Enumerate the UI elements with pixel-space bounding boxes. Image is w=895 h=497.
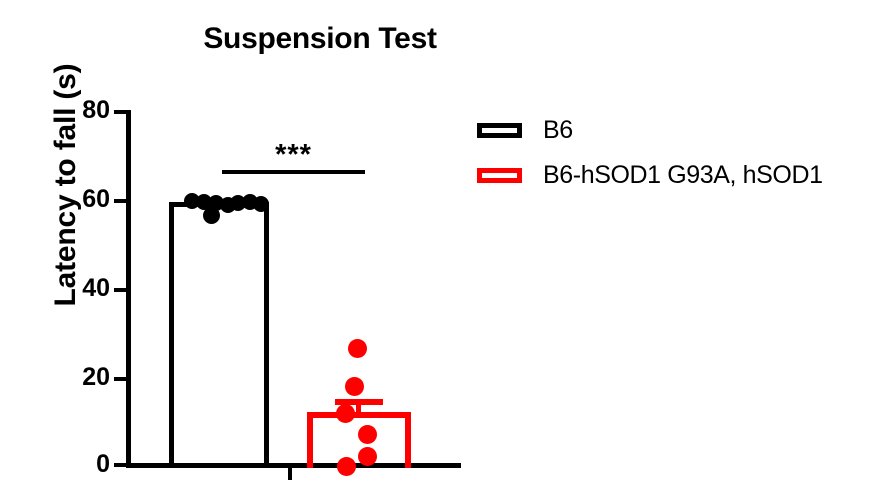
legend-label-b6-hsod1-g93a: B6-hSOD1 G93A, hSOD1 [543,161,823,190]
legend-item-b6[interactable]: B6 [477,116,573,145]
y-tick-label-60: 60 [44,187,110,212]
y-tick-label-80: 80 [44,98,110,123]
legend-swatch-b6 [477,123,522,138]
y-tick-20 [114,377,127,381]
legend-item-b6-hsod1-g93a[interactable]: B6-hSOD1 G93A, hSOD1 [477,161,823,190]
legend-swatch-b6-hsod1-g93a [477,168,522,183]
y-tick-label-20: 20 [44,365,110,390]
data-point [358,447,377,466]
suspension-test-chart: Suspension Test Latency to fall (s) 80 6… [0,0,895,497]
data-point [203,207,220,224]
y-tick-80 [114,110,127,114]
y-tick-label-0: 0 [44,452,110,477]
data-point [348,339,367,358]
x-axis-tick [288,467,292,480]
bar-b6 [169,202,269,468]
y-tick-60 [114,199,127,203]
data-point [345,377,364,396]
y-tick-label-40: 40 [44,276,110,301]
data-point [337,457,356,476]
y-tick-40 [114,288,127,292]
legend-label-b6: B6 [543,116,573,145]
y-tick-0 [114,463,127,467]
significance-stars: *** [222,141,365,170]
data-point [358,425,377,444]
data-point [336,404,355,423]
data-point [253,196,269,212]
chart-title: Suspension Test [0,22,640,56]
